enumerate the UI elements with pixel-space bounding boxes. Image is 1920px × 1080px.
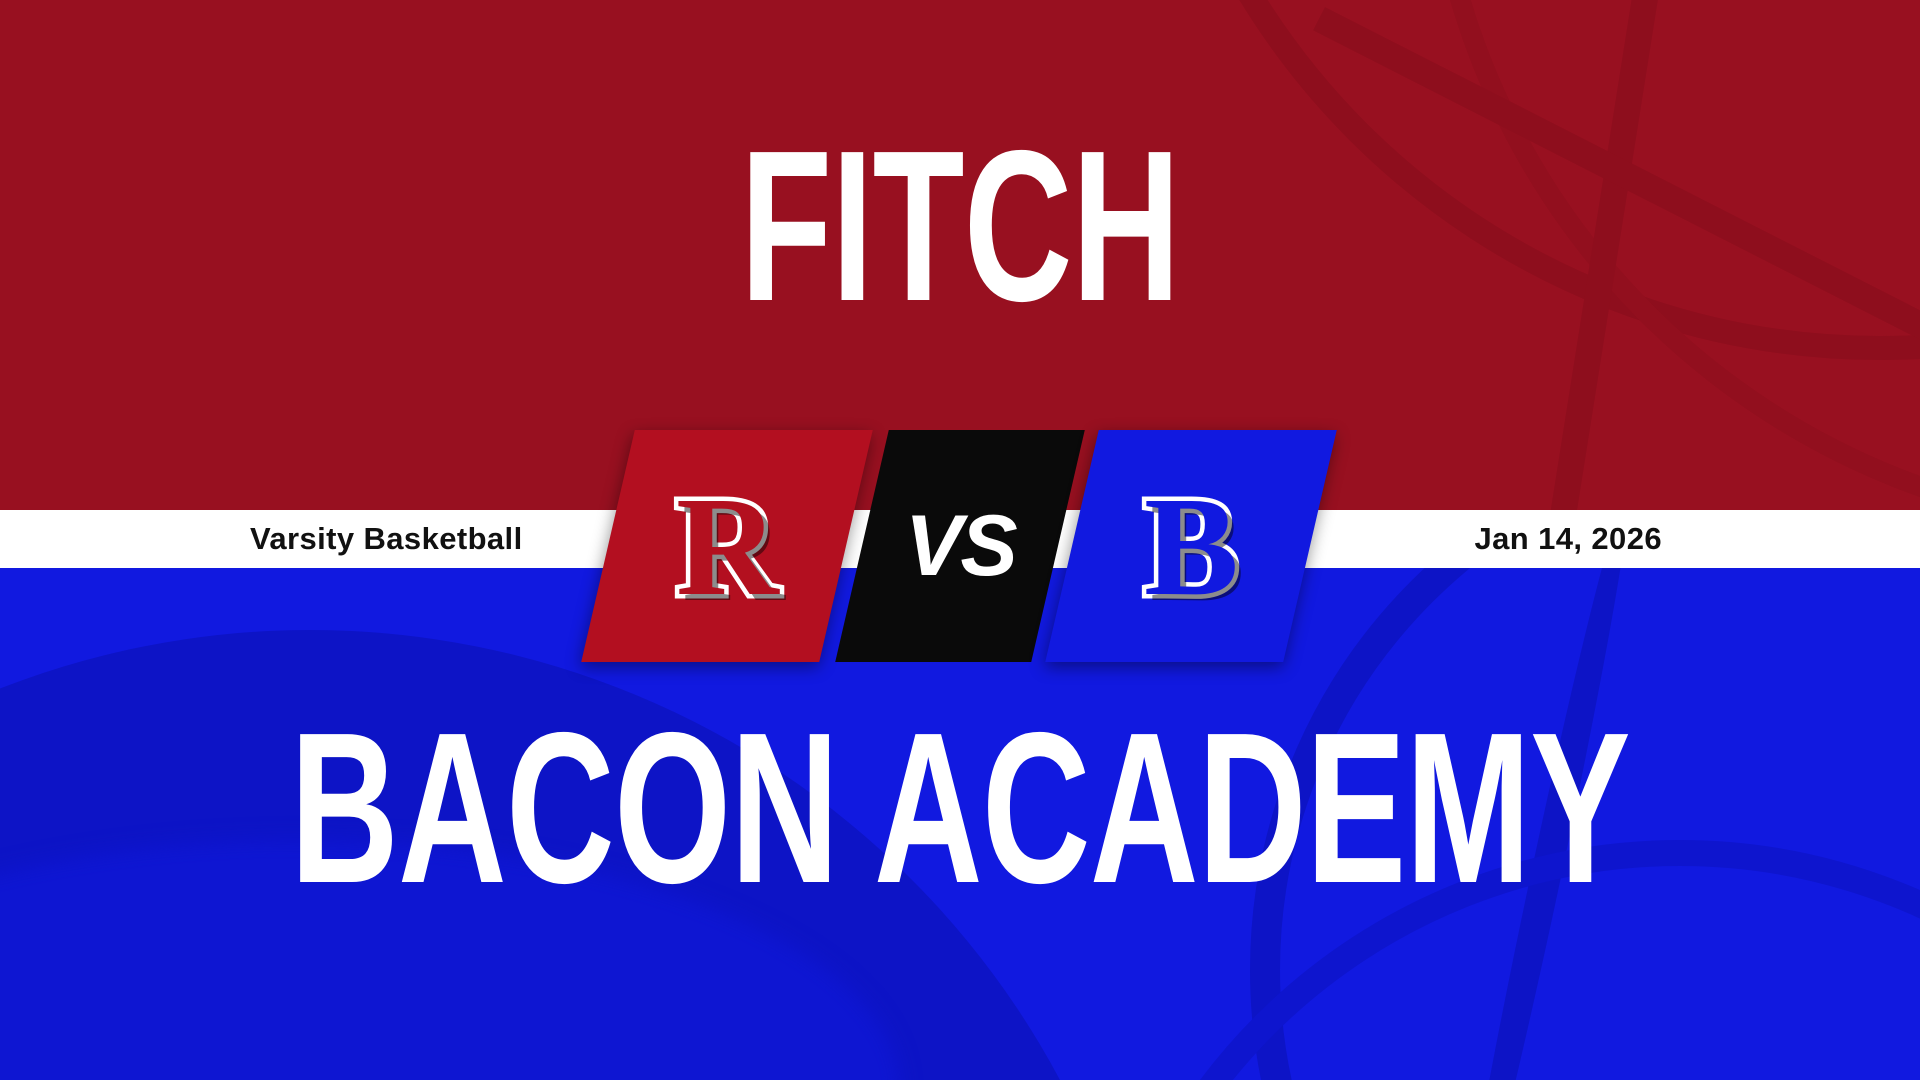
sport-label: Varsity Basketball xyxy=(250,510,523,568)
matchup-graphic: FITCH BACON ACADEMY Varsity Basketball J… xyxy=(0,0,1920,1080)
away-crest-letter: B xyxy=(1144,475,1239,617)
home-team-name: FITCH xyxy=(288,118,1632,333)
home-crest-letter: R xyxy=(676,475,779,617)
game-date-label: Jan 14, 2026 xyxy=(1474,510,1662,568)
versus-label: VS xyxy=(905,503,1016,589)
away-team-name: BACON ACADEMY xyxy=(288,700,1632,915)
